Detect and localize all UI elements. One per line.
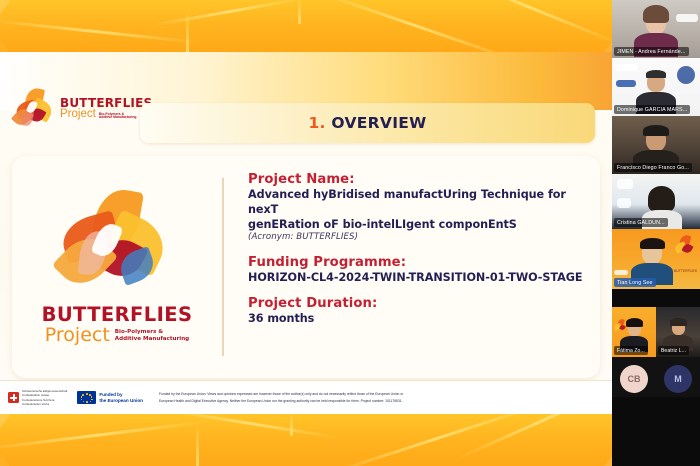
swiss-flag-icon [8, 392, 19, 403]
video-feed: CB [612, 357, 656, 397]
field-project-name: Project Name: Advanced hyBridised manufa… [248, 172, 584, 242]
video-feed: M [656, 357, 700, 397]
project-name-label: Project Name: [248, 172, 584, 187]
project-duration-value: 36 months [248, 311, 584, 326]
funding-programme-value: HORIZON-CL4-2024-TWIN-TRANSITION-01-TWO-… [248, 270, 584, 285]
filmstrip-row: Fátima Zo... Beatriz L... [612, 307, 700, 357]
swiss-line-4: Confederaziun svizra [22, 402, 67, 406]
swiss-confederation-logo: Schweizerische Eidgenossenschaft Confédé… [8, 389, 67, 406]
swiss-confederation-text: Schweizerische Eidgenossenschaft Confédé… [22, 389, 67, 406]
project-tagline-line1: Bio-Polymers & [115, 329, 189, 336]
eu-funding-logo: Funded by the European Union [77, 391, 143, 404]
participant-tile[interactable]: JIMEN - Andrea Fernánde... [612, 0, 700, 58]
project-duration-label: Project Duration: [248, 296, 584, 311]
filmstrip-row: CB M [612, 357, 700, 397]
slide-title-banner: 1. OVERVIEW [140, 103, 595, 143]
header-wordmark: BUTTERFLIES Project Bio-Polymers & Addit… [60, 97, 152, 121]
avatar: CB [620, 365, 648, 393]
participant-tile[interactable]: Fátima Zo... [612, 307, 656, 357]
participant-tile[interactable]: Beatriz L... [656, 307, 700, 357]
avatar: M [664, 365, 692, 393]
funding-programme-label: Funding Programme: [248, 255, 584, 270]
filmstrip-gap [612, 289, 700, 307]
presentation-slide: BUTTERFLIES Project Bio-Polymers & Addit… [0, 52, 612, 414]
participant-name: Dominique GARCIA MARS... [614, 105, 690, 114]
funding-disclaimer: Funded by the European Union. Views and … [153, 391, 604, 403]
participant-tile[interactable]: M [656, 357, 700, 397]
participant-tile[interactable]: Cristina GALDUN... [612, 174, 700, 229]
project-name-value-line2: genERation oF bio-intelLIgent componEntS [248, 217, 584, 232]
project-details: Project Name: Advanced hyBridised manufa… [224, 156, 600, 378]
eu-funded-line2: the European Union [99, 398, 143, 404]
slide-content-card: BUTTERFLIES Project Bio-Polymers & Addit… [12, 156, 600, 378]
participant-name: Fátima Zo... [614, 346, 648, 355]
project-wordmark-bottom: Project [45, 326, 110, 345]
participant-tile[interactable]: Dominique GARCIA MARS... [612, 58, 700, 116]
participant-tile[interactable]: BUTTERFLIES Tian Long See [612, 229, 700, 289]
header-wordmark-bottom: Project [60, 109, 96, 121]
participant-name: Francisco Diego Franco Go... [614, 163, 692, 172]
shared-screen-stage: BUTTERFLIES Project Bio-Polymers & Addit… [0, 0, 612, 466]
meeting-screen: BUTTERFLIES Project Bio-Polymers & Addit… [0, 0, 700, 466]
header-tagline-line2: Additive Manufacturing [99, 116, 137, 120]
header-brand-logo: BUTTERFLIES Project Bio-Polymers & Addit… [14, 88, 152, 130]
project-wordmark-top: BUTTERFLIES [42, 305, 193, 325]
filmstrip-empty-area [612, 397, 700, 466]
butterflies-pinwheel-large-icon [58, 191, 176, 301]
project-name-value-line1: Advanced hyBridised manufactUring Techni… [248, 187, 584, 217]
field-funding-programme: Funding Programme: HORIZON-CL4-2024-TWIN… [248, 255, 584, 285]
wallpaper-bottom [0, 414, 612, 466]
butterflies-pinwheel-icon [674, 235, 696, 257]
slide-footer: Schweizerische Eidgenossenschaft Confédé… [0, 380, 612, 414]
butterflies-pinwheel-icon [14, 88, 56, 130]
participant-name: Cristina GALDUN... [614, 218, 668, 227]
eu-flag-icon [77, 391, 96, 404]
project-wordmark: BUTTERFLIES Project Bio-Polymers & Addit… [42, 305, 193, 345]
project-acronym: (Acronym: BUTTERFLIES) [248, 232, 584, 242]
slide-title-number: 1. [308, 114, 325, 132]
participant-tile[interactable]: Francisco Diego Franco Go... [612, 116, 700, 174]
page-title: OVERVIEW [331, 114, 426, 132]
participant-tile[interactable]: CB [612, 357, 656, 397]
butterflies-pinwheel-icon [614, 319, 627, 332]
disclaimer-line-2: European Health and Digital Executive Ag… [159, 398, 600, 404]
participant-name: Tian Long See [614, 278, 656, 287]
participant-filmstrip[interactable]: JIMEN - Andrea Fernánde... Dominique GAR… [612, 0, 700, 466]
wallpaper-top [0, 0, 612, 52]
project-logo-block: BUTTERFLIES Project Bio-Polymers & Addit… [12, 156, 222, 378]
field-project-duration: Project Duration: 36 months [248, 296, 584, 326]
participant-name: JIMEN - Andrea Fernánde... [614, 47, 689, 56]
eu-funded-text: Funded by the European Union [99, 392, 143, 404]
participant-name: Beatriz L... [658, 346, 689, 355]
project-tagline-line2: Additive Manufacturing [115, 336, 189, 343]
